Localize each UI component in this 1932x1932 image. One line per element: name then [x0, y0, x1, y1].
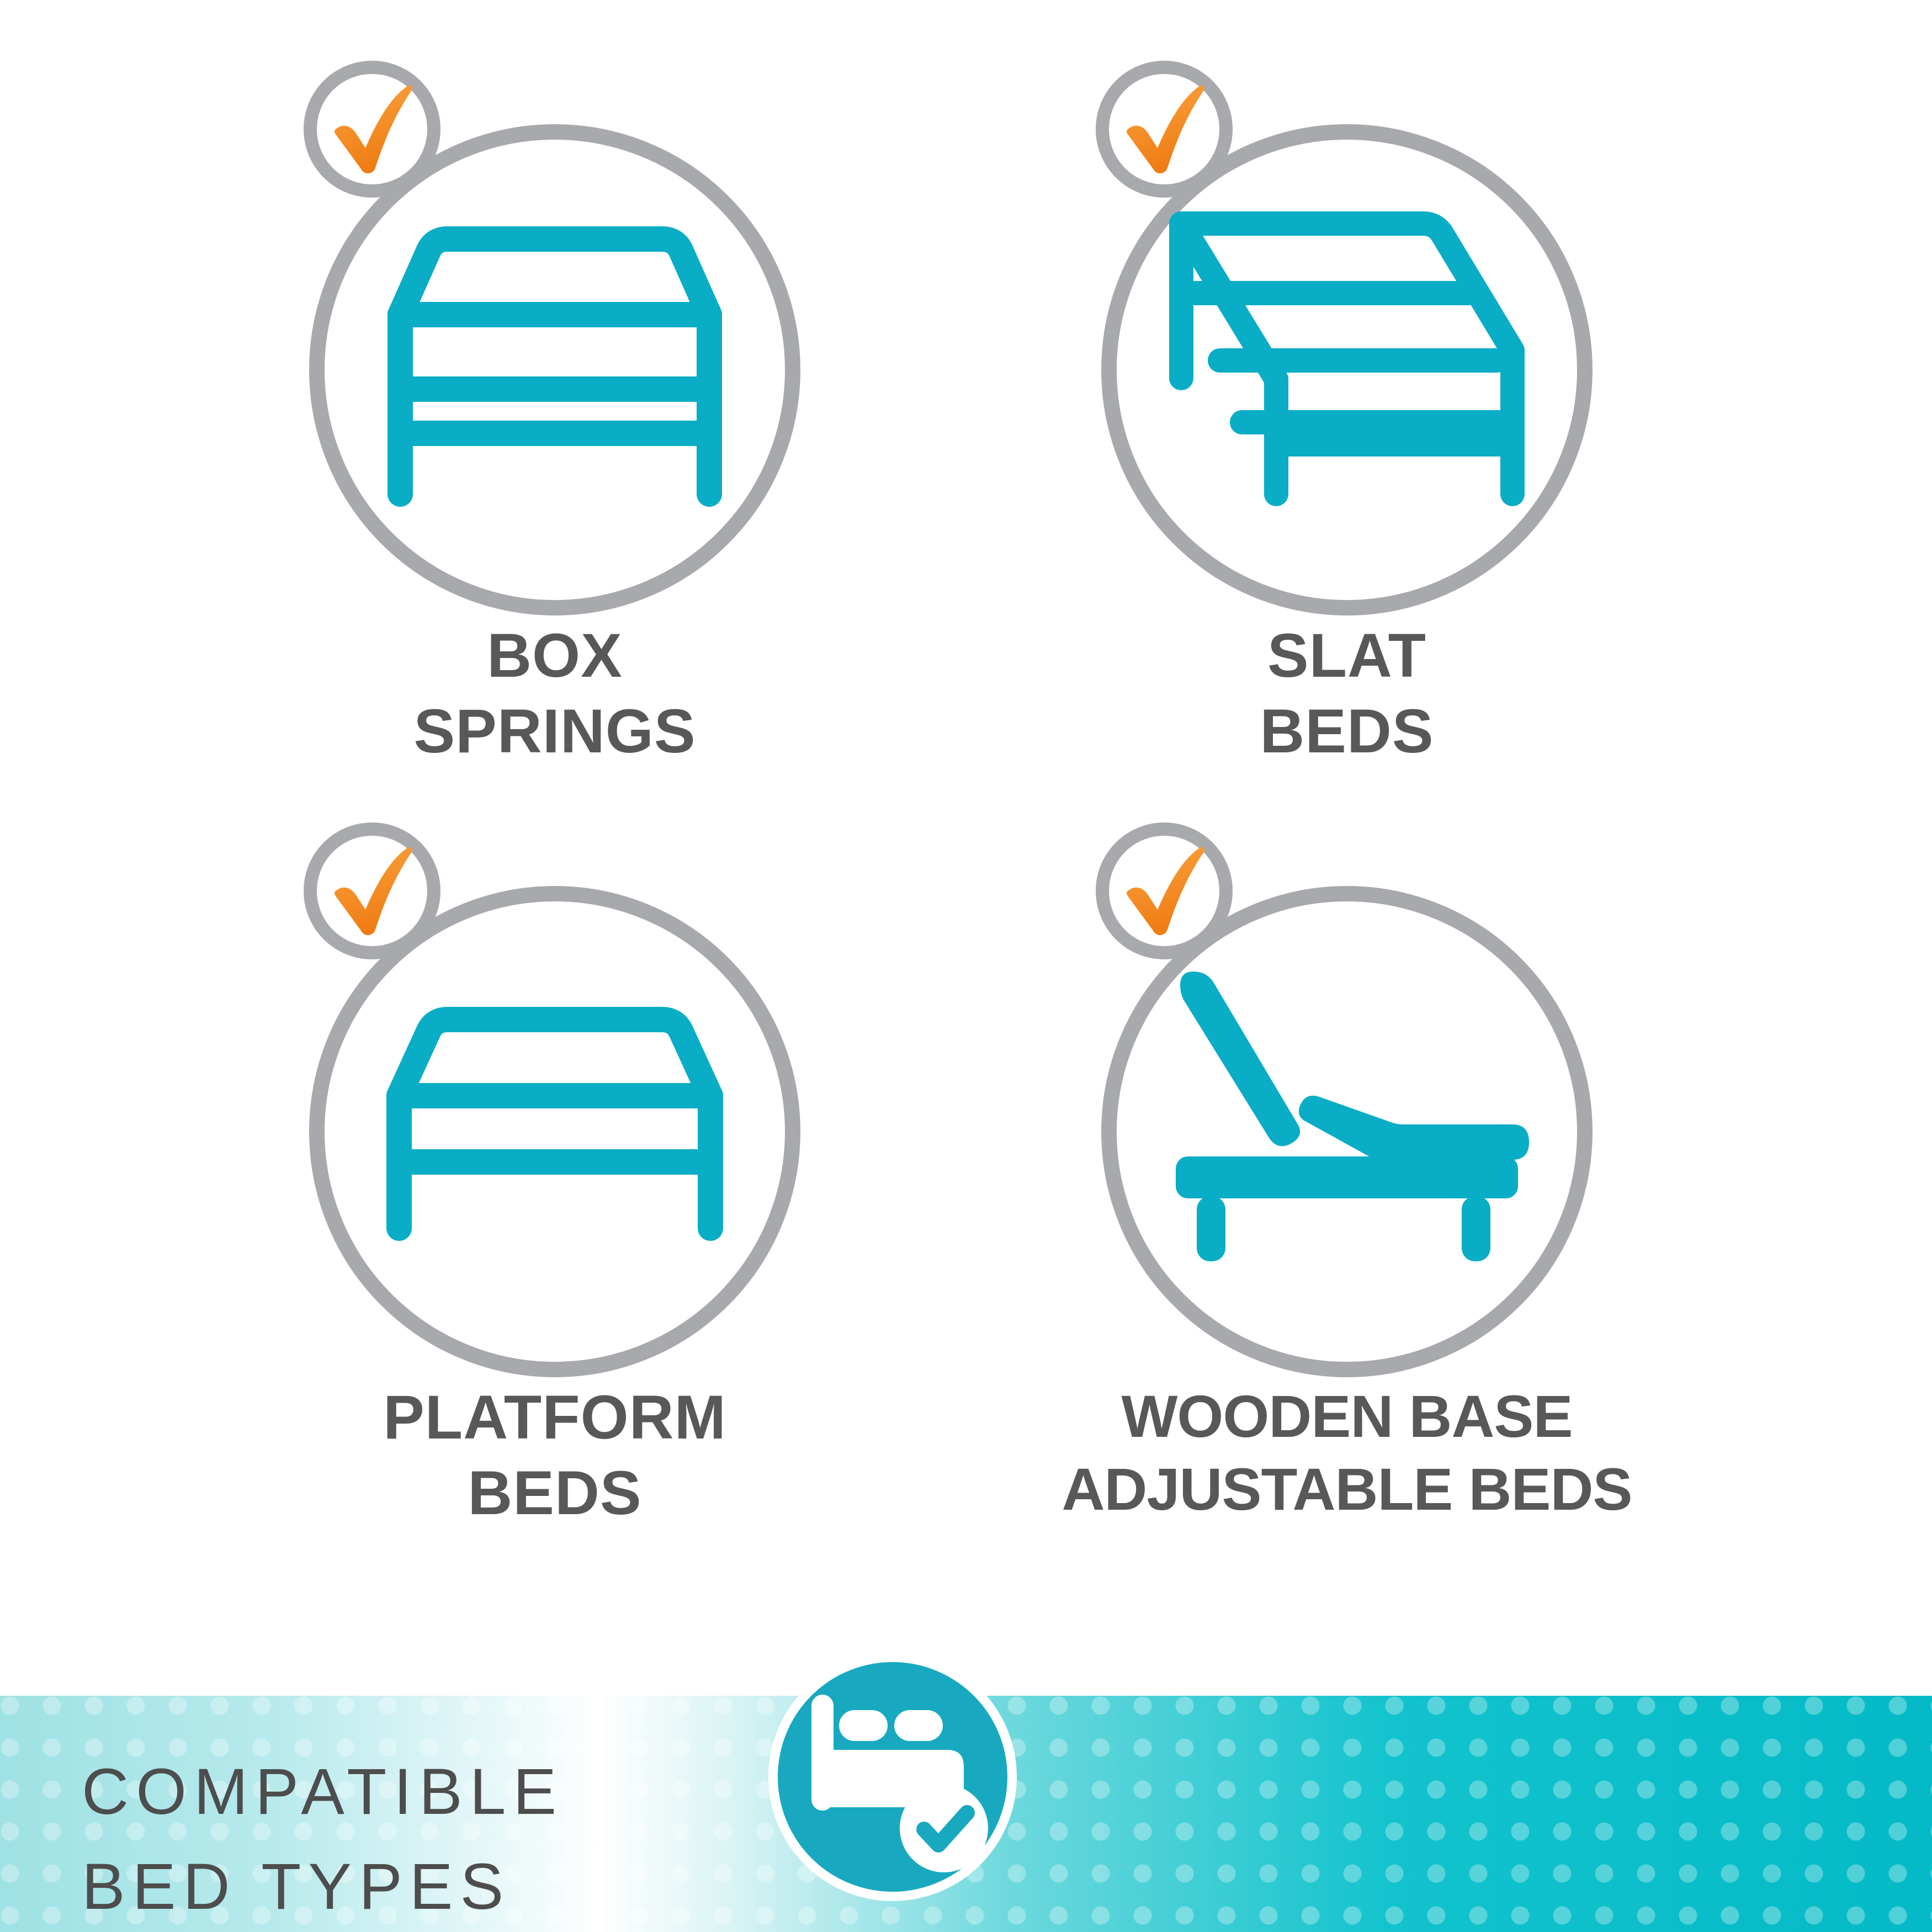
icon-ring-cluster — [1101, 61, 1593, 618]
banner-title-line-2: BED TYPES — [82, 1839, 564, 1932]
bed-type-card-slat-beds[interactable]: SLAT BEDS — [864, 61, 1830, 845]
platform-bed-icon — [367, 947, 742, 1289]
bed-with-check-badge-icon — [768, 1653, 1017, 1901]
bed-type-label: WOODEN BASE ADJUSTABLE BEDS — [864, 1380, 1830, 1526]
icon-ring-cluster — [309, 61, 800, 618]
orange-check-icon — [1096, 822, 1233, 959]
label-line-1: WOODEN BASE — [864, 1380, 1830, 1453]
box-spring-bed-icon — [367, 185, 742, 527]
banner-title: COMPATIBLE BED TYPES — [82, 1744, 564, 1932]
adjustable-bed-icon — [1159, 947, 1535, 1289]
icon-ring-cluster — [1101, 822, 1593, 1380]
bed-types-grid: BOX SPRINGS — [0, 0, 1932, 1696]
orange-check-icon — [1096, 61, 1233, 198]
orange-check-icon — [304, 61, 440, 198]
bed-type-card-wooden-base-adjustable-beds[interactable]: WOODEN BASE ADJUSTABLE BEDS — [864, 822, 1830, 1606]
orange-check-icon — [304, 822, 440, 959]
label-line-2: BEDS — [864, 694, 1830, 769]
slat-bed-icon — [1159, 185, 1535, 527]
banner-title-line-1: COMPATIBLE — [82, 1744, 564, 1839]
icon-ring-cluster — [309, 822, 800, 1380]
label-line-2: ADJUSTABLE BEDS — [864, 1453, 1830, 1526]
label-line-1: SLAT — [864, 618, 1830, 694]
bed-type-label: SLAT BEDS — [864, 618, 1830, 769]
